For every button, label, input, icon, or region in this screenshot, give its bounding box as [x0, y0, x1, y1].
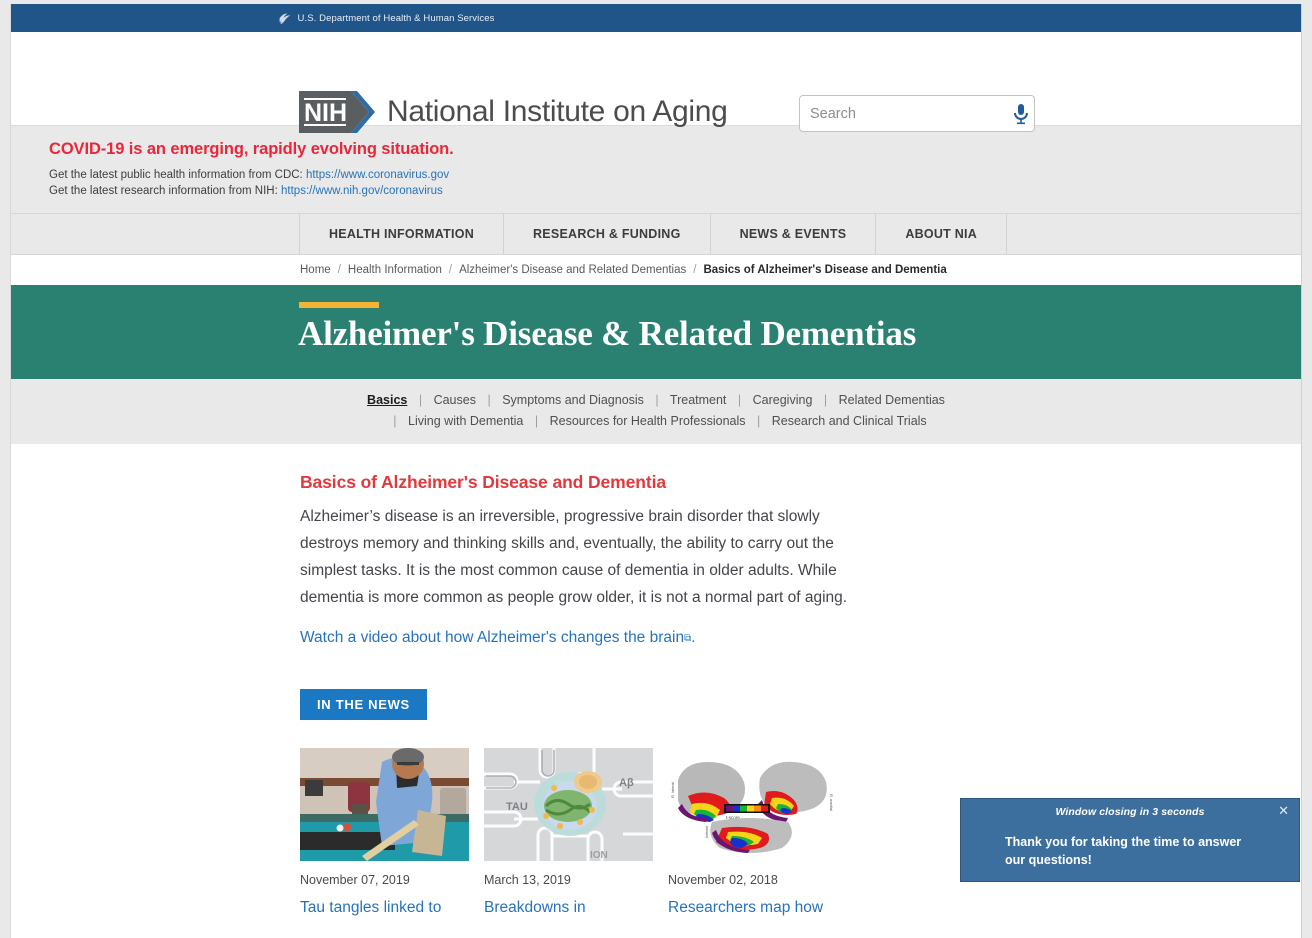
svg-text:R. medial: R. medial — [829, 794, 834, 811]
main-navigation: HEALTH INFORMATION RESEARCH & FUNDING NE… — [11, 213, 1301, 255]
close-icon[interactable]: ✕ — [1278, 803, 1289, 819]
breadcrumb-separator: / — [686, 264, 703, 276]
page-hero: Alzheimer's Disease & Related Dementias — [11, 285, 1301, 379]
nav-item-health-information[interactable]: HEALTH INFORMATION — [299, 214, 504, 254]
cdc-link[interactable]: https://www.coronavirus.gov — [306, 169, 449, 181]
survey-popup-timer: Window closing in 3 seconds — [1055, 806, 1204, 818]
breadcrumb-item-adrd[interactable]: Alzheimer's Disease and Related Dementia… — [459, 264, 686, 276]
site-title: National Institute on Aging — [387, 95, 727, 129]
page-title: Alzheimer's Disease & Related Dementias — [298, 314, 916, 354]
subnav-row-1: Basics | Causes | Symptoms and Diagnosis… — [11, 390, 1301, 411]
news-thumbnail-puzzle-illustration[interactable]: TAU Aβ ION — [484, 748, 653, 861]
hhs-banner: U.S. Department of Health & Human Servic… — [11, 4, 1301, 32]
news-thumbnail-pool-photo[interactable] — [300, 748, 469, 861]
hhs-eagle-logo-icon — [278, 12, 293, 25]
news-card[interactable]: R. lateral R. medial — [668, 748, 837, 919]
subnav-separator: | — [730, 393, 749, 407]
microphone-icon[interactable] — [1007, 96, 1034, 131]
subnav-separator: | — [385, 414, 404, 428]
covid-alert-line-1: Get the latest public health information… — [49, 168, 1301, 184]
svg-text:R. lateral: R. lateral — [670, 782, 675, 798]
breadcrumb-item-current: Basics of Alzheimer's Disease and Dement… — [703, 264, 946, 276]
covid-line-1-text: Get the latest public health information… — [49, 169, 306, 181]
survey-popup: Window closing in 3 seconds ✕ Thank you … — [960, 798, 1300, 882]
news-card-date: March 13, 2019 — [484, 873, 653, 887]
breadcrumb: Home / Health Information / Alzheimer's … — [11, 255, 1301, 285]
covid-line-2-text: Get the latest research information from… — [49, 185, 281, 197]
watch-video-link[interactable]: Watch a video about how Alzheimer's chan… — [300, 629, 684, 646]
subnav-item-causes[interactable]: Causes — [434, 393, 476, 407]
search-input[interactable] — [800, 96, 1007, 131]
subnav-item-symptoms-and-diagnosis[interactable]: Symptoms and Diagnosis — [502, 393, 644, 407]
subnav-item-research-and-clinical-trials[interactable]: Research and Clinical Trials — [772, 414, 927, 428]
survey-popup-message: Thank you for taking the time to answer … — [961, 825, 1299, 869]
nav-item-research-funding[interactable]: RESEARCH & FUNDING — [504, 214, 711, 254]
subnav-item-basics[interactable]: Basics — [367, 393, 407, 407]
nih-logo-icon: NIH — [299, 91, 375, 133]
survey-popup-header: Window closing in 3 seconds ✕ — [961, 799, 1299, 825]
breadcrumb-separator: / — [331, 264, 348, 276]
news-card-headline[interactable]: Breakdowns in — [484, 897, 653, 919]
hhs-banner-text: U.S. Department of Health & Human Servic… — [298, 13, 495, 24]
covid-alert-banner: COVID-19 is an emerging, rapidly evolvin… — [11, 125, 1301, 213]
video-link-suffix: . — [691, 629, 695, 646]
subnav-item-living-with-dementia[interactable]: Living with Dementia — [408, 414, 523, 428]
article-paragraph: Alzheimer’s disease is an irreversible, … — [300, 503, 850, 611]
news-card-date: November 07, 2019 — [300, 873, 469, 887]
breadcrumb-item-health-information[interactable]: Health Information — [348, 264, 442, 276]
subnav-item-related-dementias[interactable]: Related Dementias — [839, 393, 945, 407]
news-card[interactable]: November 07, 2019 Tau tangles linked to — [300, 748, 469, 919]
subnav-separator: | — [816, 393, 835, 407]
subnav-item-caregiving[interactable]: Caregiving — [753, 393, 813, 407]
svg-text:NIH: NIH — [304, 99, 347, 127]
svg-text:ION: ION — [590, 850, 608, 861]
svg-text:Inferior: Inferior — [704, 825, 709, 838]
hero-accent-rule — [299, 302, 379, 308]
site-header: NIH National Institute on Aging — [11, 32, 1301, 125]
search-box[interactable] — [799, 95, 1035, 132]
covid-alert-line-2: Get the latest research information from… — [49, 184, 1301, 200]
news-card-headline[interactable]: Researchers map how — [668, 897, 837, 919]
nih-coronavirus-link[interactable]: https://www.nih.gov/coronavirus — [281, 185, 443, 197]
breadcrumb-separator: / — [442, 264, 459, 276]
subnav-separator: | — [527, 414, 546, 428]
subnav-separator: | — [411, 393, 430, 407]
covid-alert-title: COVID-19 is an emerging, rapidly evolvin… — [49, 140, 1301, 159]
subnav-item-treatment[interactable]: Treatment — [670, 393, 727, 407]
subnav-row-2: | Living with Dementia | Resources for H… — [11, 411, 1301, 432]
nav-item-about-nia[interactable]: ABOUT NIA — [876, 214, 1007, 254]
site-logo[interactable]: NIH National Institute on Aging — [299, 91, 727, 133]
in-the-news-badge: IN THE NEWS — [300, 689, 427, 720]
news-thumbnail-brain-scan-figure[interactable]: R. lateral R. medial — [668, 748, 837, 861]
svg-text:Aβ: Aβ — [619, 777, 634, 789]
news-card-headline[interactable]: Tau tangles linked to — [300, 897, 469, 919]
news-card-date: November 02, 2018 — [668, 873, 837, 887]
svg-text:TAU: TAU — [506, 801, 528, 813]
subnav-separator: | — [479, 393, 498, 407]
subnav-separator: | — [749, 414, 768, 428]
subnav-item-resources-for-health-professionals[interactable]: Resources for Health Professionals — [550, 414, 746, 428]
news-card[interactable]: TAU Aβ ION March 13, 2019 Breakdowns in — [484, 748, 653, 919]
subnav-separator: | — [647, 393, 666, 407]
breadcrumb-item-home[interactable]: Home — [300, 264, 331, 276]
page-root: U.S. Department of Health & Human Servic… — [0, 0, 1312, 938]
video-link-line: Watch a video about how Alzheimer's chan… — [300, 629, 1301, 647]
article-heading: Basics of Alzheimer's Disease and Dement… — [300, 472, 1301, 493]
nav-item-news-events[interactable]: NEWS & EVENTS — [711, 214, 877, 254]
section-subnav: Basics | Causes | Symptoms and Diagnosis… — [11, 379, 1301, 444]
